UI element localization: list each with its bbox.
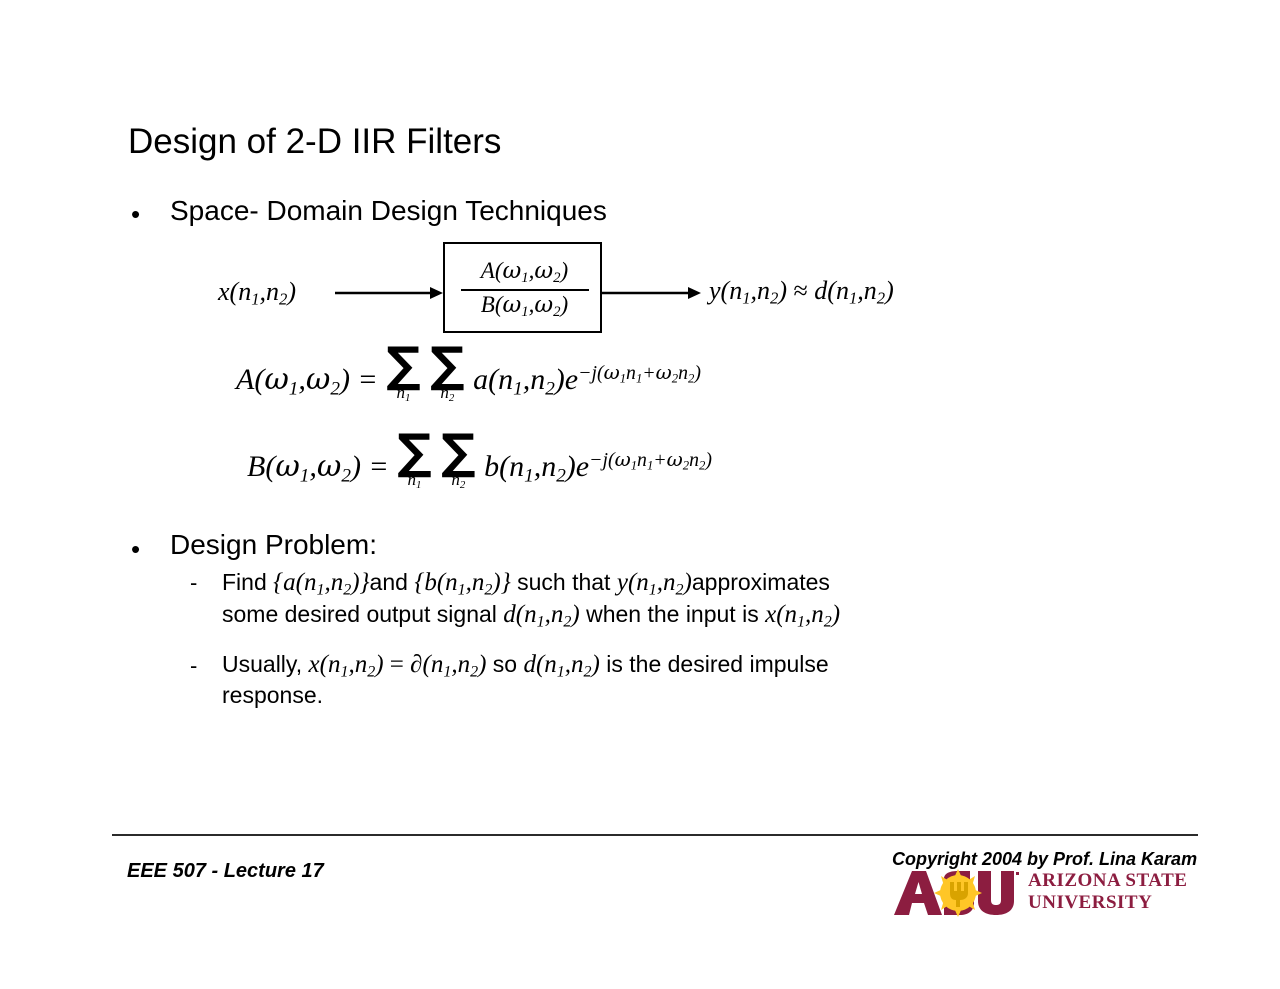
equation-b-lhs: B(ω1,ω2) = [247,450,389,483]
desired-output-mid: when the input is [580,601,765,627]
usually-prefix: Usually, [222,651,309,677]
transfer-function-fraction: A(ω1,ω2) B(ω1,ω2) [445,244,604,335]
math-d-signal: d(n1,n2) [503,601,579,628]
math-set-b: {b(n1,n2)} [414,569,510,596]
math-set-a: {a(n1,n2)} [273,569,369,596]
slide-canvas: Design of 2-D IIR Filters • Space- Domai… [0,0,1280,989]
find-post: such that [511,569,617,595]
math-d-impulse: d(n1,n2) [523,651,599,678]
asu-logo: ARIZONA STATE UNIVERSITY [892,869,1202,917]
equation-b-term: b(n1,n2)e−j(ω1n1+ω2n2) [484,450,712,483]
equation-b-sum-2: ∑ n2 [441,432,475,491]
usually-mid: so [486,651,523,677]
equation-a-sum-2: ∑ n2 [430,345,464,404]
find-mid: and [370,569,415,595]
copyright-notice: Copyright 2004 by Prof. Lina Karam [892,849,1197,870]
math-y-signal: y(n1,n2) [617,569,692,596]
fraction-bar [461,289,589,291]
desired-output-prefix: some desired output signal [222,601,503,627]
equation-a-term: a(n1,n2)e−j(ω1n1+ω2n2) [473,363,701,396]
footer-course-label: EEE 507 - Lecture 17 [127,860,324,883]
sub-bullet-marker-1: - [190,572,197,594]
bullet-marker-1: • [131,201,140,227]
equation-a: A(ω1,ω2) = ∑ n1 ∑ n2 a(n1,n2)e−j(ω1n1+ω2… [236,345,701,404]
page-title: Design of 2-D IIR Filters [128,122,501,162]
sub-bullet-usually-line-1: Usually, x(n1,n2) = ∂(n1,n2) so d(n1,n2)… [222,650,829,682]
equation-b: B(ω1,ω2) = ∑ n1 ∑ n2 b(n1,n2)e−j(ω1n1+ω2… [247,432,712,491]
equation-a-sum-1: ∑ n1 [386,345,420,404]
footer-divider [112,834,1198,836]
sub-bullet-usually-line-2: response. [222,682,323,709]
sub-bullet-find-line-1: Find {a(n1,n2)}and {b(n1,n2)} such that … [222,568,830,600]
asu-logo-mark-icon [892,869,1022,917]
transfer-function-box: A(ω1,ω2) B(ω1,ω2) [443,242,602,333]
fraction-denominator: B(ω1,ω2) [481,292,568,322]
diagram-output-label: y(n1,n2) ≈ d(n1,n2) [709,276,894,309]
math-x-equals-delta: x(n1,n2) = ∂(n1,n2) [309,651,487,678]
bullet-text-space-domain: Space- Domain Design Techniques [170,197,607,225]
equation-a-lhs: A(ω1,ω2) = [236,363,378,396]
find-end: approximates [692,569,830,595]
asu-logo-line-2: UNIVERSITY [1028,892,1187,914]
sub-bullet-marker-2: - [190,655,197,677]
diagram-input-label: x(n1,n2) [218,277,296,310]
math-x-signal: x(n1,n2) [765,601,840,628]
find-prefix: Find [222,569,273,595]
bullet-marker-2: • [131,536,140,562]
asu-logo-wordmark: ARIZONA STATE UNIVERSITY [1028,870,1187,914]
equation-b-sum-1: ∑ n1 [397,432,431,491]
bullet-text-design-problem: Design Problem: [170,531,377,559]
asu-logo-line-1: ARIZONA STATE [1028,870,1187,892]
usually-post: is the desired impulse [600,651,829,677]
fraction-numerator: A(ω1,ω2) [481,258,568,288]
sub-bullet-find-line-2: some desired output signal d(n1,n2) when… [222,600,840,632]
